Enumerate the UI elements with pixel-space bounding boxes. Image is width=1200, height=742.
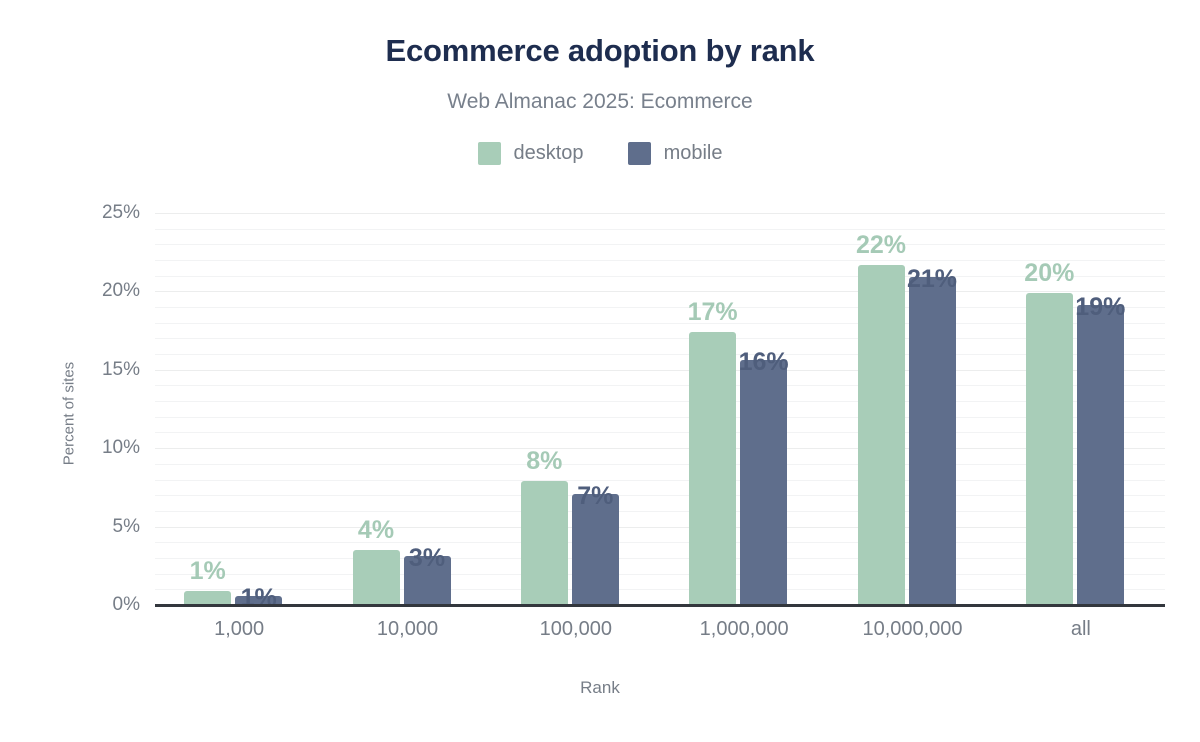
- gridline-minor: [155, 558, 1165, 559]
- plot-area: 1%1%4%3%8%7%17%16%22%21%20%19%: [155, 205, 1165, 605]
- y-axis-tick-label: 0%: [60, 594, 140, 616]
- gridline-minor: [155, 323, 1165, 324]
- gridline-major: [155, 370, 1165, 371]
- gridline-minor: [155, 307, 1165, 308]
- legend-swatch-mobile: [628, 142, 651, 165]
- legend-item-mobile[interactable]: mobile: [628, 142, 723, 165]
- bar-desktop-all[interactable]: [1026, 293, 1073, 605]
- gridline-minor: [155, 574, 1165, 575]
- bar-value-label-desktop-1,000: 1%: [172, 557, 243, 586]
- bar-value-label-mobile-10,000: 3%: [392, 544, 463, 573]
- bar-value-label-desktop-10,000: 4%: [341, 516, 412, 545]
- y-axis-tick-label: 25%: [60, 202, 140, 224]
- legend-item-desktop[interactable]: desktop: [478, 142, 584, 165]
- gridline-minor: [155, 354, 1165, 355]
- gridline-minor: [155, 589, 1165, 590]
- gridline-minor: [155, 432, 1165, 433]
- x-axis-tick-label: 1,000,000: [700, 618, 789, 641]
- bar-mobile-1,000,000[interactable]: [740, 360, 787, 605]
- x-axis-line: [155, 604, 1165, 607]
- gridline-minor: [155, 464, 1165, 465]
- gridline-major: [155, 448, 1165, 449]
- gridline-major: [155, 291, 1165, 292]
- gridline-minor: [155, 401, 1165, 402]
- bar-mobile-10,000,000[interactable]: [909, 277, 956, 605]
- bar-value-label-mobile-1,000: 1%: [223, 584, 294, 613]
- gridline-minor: [155, 495, 1165, 496]
- gridline-minor: [155, 417, 1165, 418]
- bar-value-label-desktop-1,000,000: 17%: [677, 298, 748, 327]
- gridline-minor: [155, 385, 1165, 386]
- x-axis-tick-label: 10,000: [377, 618, 438, 641]
- chart-legend: desktop mobile: [0, 142, 1200, 165]
- bar-value-label-mobile-100,000: 7%: [560, 482, 631, 511]
- gridline-minor: [155, 511, 1165, 512]
- y-axis-tick-label: 15%: [60, 359, 140, 381]
- x-axis-tick-label: 1,000: [214, 618, 264, 641]
- legend-label-mobile: mobile: [664, 142, 723, 165]
- bar-value-label-desktop-all: 20%: [1014, 259, 1085, 288]
- gridline-minor: [155, 542, 1165, 543]
- legend-label-desktop: desktop: [514, 142, 584, 165]
- bar-value-label-mobile-10,000,000: 21%: [897, 265, 968, 294]
- y-axis-tick-label: 5%: [60, 516, 140, 538]
- chart-subtitle: Web Almanac 2025: Ecommerce: [0, 90, 1200, 114]
- gridline-minor: [155, 244, 1165, 245]
- bar-chart: Ecommerce adoption by rank Web Almanac 2…: [0, 0, 1200, 742]
- x-axis-title: Rank: [0, 678, 1200, 698]
- gridline-major: [155, 527, 1165, 528]
- bar-value-label-desktop-100,000: 8%: [509, 447, 580, 476]
- y-axis-tick-label: 20%: [60, 280, 140, 302]
- bar-value-label-mobile-all: 19%: [1065, 293, 1136, 322]
- chart-title: Ecommerce adoption by rank: [0, 33, 1200, 69]
- gridline-major: [155, 213, 1165, 214]
- gridline-minor: [155, 480, 1165, 481]
- bar-value-label-mobile-1,000,000: 16%: [728, 348, 799, 377]
- bar-mobile-all[interactable]: [1077, 305, 1124, 605]
- x-axis-tick-label: 100,000: [540, 618, 612, 641]
- gridline-minor: [155, 338, 1165, 339]
- y-axis-tick-label: 10%: [60, 437, 140, 459]
- bar-desktop-10,000,000[interactable]: [858, 265, 905, 605]
- legend-swatch-desktop: [478, 142, 501, 165]
- bar-value-label-desktop-10,000,000: 22%: [846, 231, 917, 260]
- gridline-minor: [155, 229, 1165, 230]
- x-axis-tick-label: all: [1071, 618, 1091, 641]
- x-axis-tick-label: 10,000,000: [862, 618, 962, 641]
